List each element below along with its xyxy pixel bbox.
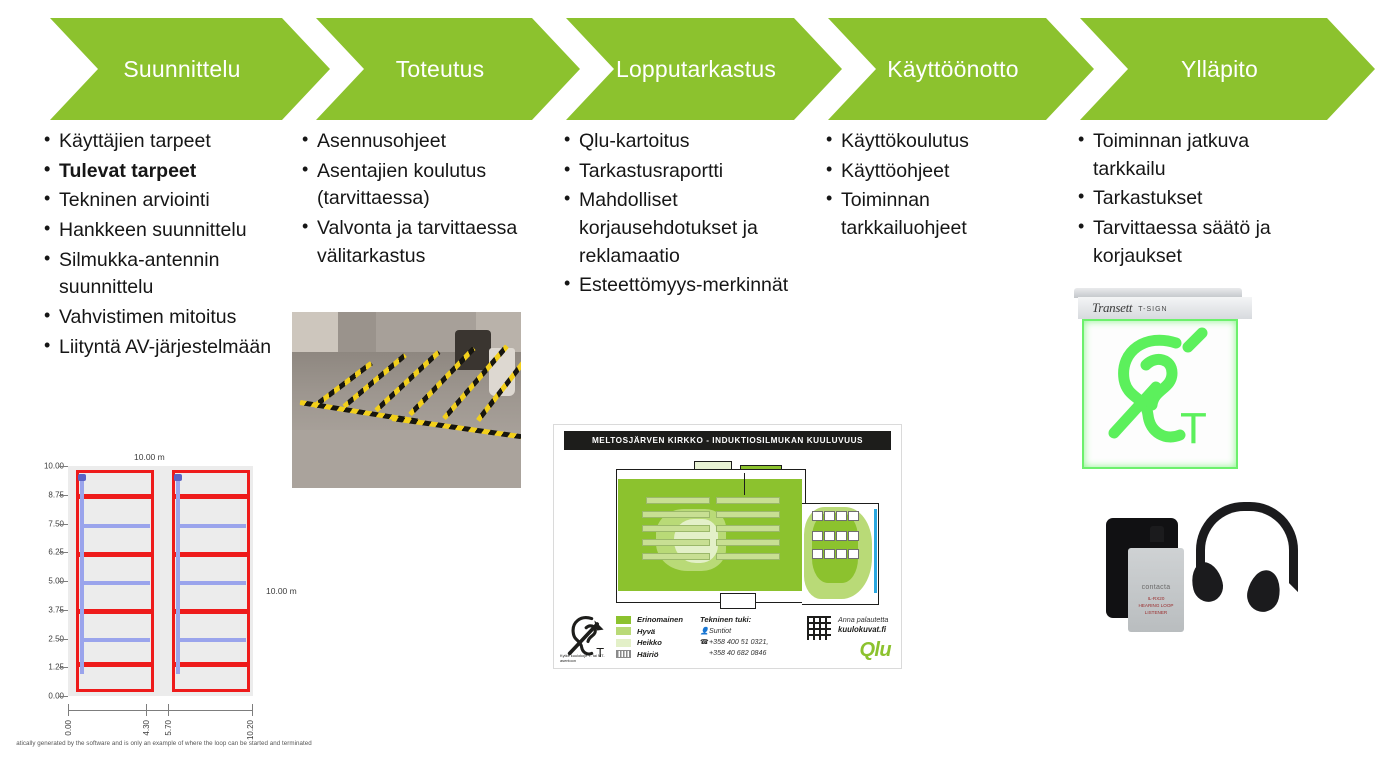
loop-segment-right — [172, 662, 250, 667]
legend-row: Erinomainen — [616, 615, 683, 624]
list-item-text: Valvonta ja tarvittaessa välitarkastus — [317, 217, 517, 267]
hearing-loop-symbol-icon: T — [1084, 321, 1236, 467]
list-item-text: Asennusohjeet — [317, 130, 446, 152]
bullet-list: Käyttökoulutus Käyttöohjeet Toiminnan ta… — [824, 128, 1034, 243]
legend-label: Erinomainen — [637, 615, 683, 624]
technical-support-block: Tekninen tuki: 👤 Suntiot ☎ +358 400 51 0… — [700, 615, 798, 661]
list-item: Käyttäjien tarpeet — [42, 128, 272, 156]
process-phase-kayttoonotto[interactable]: Käyttöönotto — [828, 18, 1094, 120]
return-segment-left — [80, 638, 150, 642]
receiver-body: contacta IL-RX20 HEARING LOOP LISTENER — [1106, 518, 1178, 618]
bullet-list: Qlu-kartoitus Tarkastusraportti Mahdolli… — [562, 128, 794, 300]
qlu-coverage-report: MELTOSJÄRVEN KIRKKO - INDUKTIOSILMUKAN K… — [553, 424, 902, 669]
photo-floor-loop-cable — [292, 312, 521, 488]
receiver-description: HEARING LOOP LISTENER — [1139, 603, 1174, 615]
legend-swatch-erinomainen — [616, 616, 631, 624]
loop-design-plot: 10.00 m 10.00 m 10.00 8.75 7.50 6.25 5.0… — [14, 452, 314, 772]
plan-entrance-bottom — [720, 593, 756, 609]
chair — [848, 531, 859, 541]
support-phone-row-2: +358 40 682 0846 — [700, 649, 798, 658]
list-item: Asennusohjeet — [300, 128, 532, 156]
pew — [716, 553, 780, 560]
return-vertical-right — [176, 478, 180, 674]
list-item-text: Vahvistimen mitoitus — [59, 306, 236, 328]
loop-start-marker-left — [78, 474, 86, 481]
svg-text:T: T — [1180, 404, 1207, 453]
loop-segment-right — [172, 552, 250, 557]
legend-swatch-heikko — [616, 639, 631, 647]
list-item-text: Tarvittaessa säätö ja korjaukset — [1093, 217, 1271, 267]
bullet-list: Käyttäjien tarpeet Tulevat tarpeet Tekni… — [42, 128, 272, 362]
receiver-brand-label: contacta — [1128, 584, 1184, 591]
list-item: Käyttöohjeet — [824, 158, 1034, 186]
x-tick-label: 5.70 — [164, 720, 173, 736]
list-item-text: Toiminnan tarkkailuohjeet — [841, 189, 967, 239]
list-item-text: Hankkeen suunnittelu — [59, 219, 247, 241]
list-item: Toiminnan tarkkailuohjeet — [824, 187, 1034, 242]
list-item: Tarvittaessa säätö ja korjaukset — [1076, 215, 1308, 270]
pew — [646, 497, 710, 504]
support-contact-row: 👤 Suntiot — [700, 627, 798, 636]
process-phase-toteutus[interactable]: Toteutus — [316, 18, 580, 120]
return-segment-right — [176, 581, 246, 585]
sign-illuminated-panel: T — [1082, 319, 1238, 469]
chair — [836, 549, 847, 559]
sign-model-label: T-SIGN — [1138, 306, 1167, 313]
phase-label: Käyttöönotto — [887, 56, 1019, 83]
feedback-heading: Anna palautetta — [838, 615, 888, 624]
pew — [716, 525, 780, 532]
process-phase-yllapito[interactable]: Ylläpito — [1080, 18, 1375, 120]
list-item: Toiminnan jatkuva tarkkailu — [1076, 128, 1308, 183]
receiver-model: IL-RX20 — [1148, 596, 1165, 601]
phase-items-kayttoonotto: Käyttökoulutus Käyttöohjeet Toiminnan ta… — [824, 128, 1034, 245]
plot-drawing-area — [68, 466, 253, 696]
list-item-text: Tekninen arviointi — [59, 189, 210, 211]
legend-row: Hyvä — [616, 627, 683, 636]
list-item-text: Esteettömyys-merkinnät — [579, 274, 788, 296]
list-item: Vahvistimen mitoitus — [42, 304, 272, 332]
pew — [642, 539, 710, 546]
sign-brand-label: Transett — [1092, 300, 1132, 316]
plan-loop-cable — [874, 509, 877, 593]
sign-brand-bar: Transett T-SIGN — [1078, 297, 1252, 319]
bullet-list: Toiminnan jatkuva tarkkailu Tarkastukset… — [1076, 128, 1308, 270]
list-item: Tulevat tarpeet — [42, 158, 272, 186]
list-item: Valvonta ja tarvittaessa välitarkastus — [300, 215, 532, 270]
return-segment-right — [176, 638, 246, 642]
process-phase-lopputarkastus[interactable]: Lopputarkastus — [566, 18, 842, 120]
list-item: Silmukka-antennin suunnittelu — [42, 247, 272, 302]
plot-top-dimension: 10.00 m — [134, 452, 165, 462]
person-icon: 👤 — [700, 627, 709, 636]
list-item-text: Käyttökoulutus — [841, 130, 969, 152]
photo-floor-near — [292, 430, 521, 488]
pew — [642, 553, 710, 560]
chair — [812, 531, 823, 541]
plot-y-axis: 10.00 8.75 7.50 6.25 5.00 3.75 2.50 1.25… — [14, 466, 68, 696]
list-item-text: Liityntä AV-järjestelmään — [59, 336, 271, 358]
list-item: Mahdolliset korjausehdotukset ja reklama… — [562, 187, 794, 270]
loop-segment-right — [172, 494, 250, 499]
legend-swatch-hyva — [616, 627, 631, 635]
x-tick-label: 10.20 — [246, 720, 255, 740]
loop-segment-left — [76, 609, 154, 614]
list-item-text: Mahdolliset korjausehdotukset ja reklama… — [579, 189, 758, 266]
phase-items-toteutus: Asennusohjeet Asentajien koulutus (tarvi… — [300, 128, 532, 272]
plan-direction-arrow — [744, 473, 745, 495]
list-item: Tarkastukset — [1076, 185, 1308, 213]
slide-canvas: Suunnittelu Toteutus Lopputarkastus Käyt… — [0, 0, 1400, 782]
plan-side-coverage-excellent — [812, 513, 858, 583]
list-item: Käyttökoulutus — [824, 128, 1034, 156]
pew — [642, 511, 710, 518]
list-item-text: Tarkastukset — [1093, 187, 1202, 209]
pew — [716, 511, 780, 518]
coverage-floorplan — [616, 461, 866, 607]
list-item: Hankkeen suunnittelu — [42, 217, 272, 245]
list-item-text: Tulevat tarpeet — [59, 160, 196, 182]
plot-right-dimension: 10.00 m — [266, 586, 297, 596]
loop-segment-left — [76, 662, 154, 667]
list-item: Asentajien koulutus (tarvittaessa) — [300, 158, 532, 213]
list-item-text: Qlu-kartoitus — [579, 130, 690, 152]
coverage-legend: Erinomainen Hyvä Heikko Häiriö — [616, 615, 683, 661]
phase-items-lopputarkastus: Qlu-kartoitus Tarkastusraportti Mahdolli… — [562, 128, 794, 302]
qr-code-icon[interactable] — [806, 615, 832, 641]
phase-label: Toteutus — [396, 56, 485, 83]
return-segment-right — [176, 524, 246, 528]
photo-transett-t-sign: Transett T-SIGN T — [1068, 288, 1244, 470]
x-tick-label: 0.00 — [64, 720, 73, 736]
receiver-model-label: IL-RX20 HEARING LOOP LISTENER — [1128, 596, 1184, 617]
legend-swatch-hairio — [616, 650, 631, 658]
phase-items-suunnittelu: Käyttäjien tarpeet Tulevat tarpeet Tekni… — [42, 128, 272, 364]
list-item: Esteettömyys-merkinnät — [562, 272, 794, 300]
list-item-text: Silmukka-antennin suunnittelu — [59, 249, 219, 299]
legend-label: Häiriö — [637, 650, 659, 659]
receiver-faceplate: contacta IL-RX20 HEARING LOOP LISTENER — [1128, 548, 1184, 632]
plot-x-axis: 0.00 4.30 5.70 10.20 — [68, 704, 253, 718]
receiver-volume-knob — [1150, 526, 1164, 542]
chair — [836, 531, 847, 541]
chair — [824, 549, 835, 559]
chair — [824, 531, 835, 541]
phone-icon: ☎ — [700, 638, 709, 647]
support-name: Suntiot — [709, 627, 731, 636]
chair — [824, 511, 835, 521]
list-item-text: Käyttöohjeet — [841, 160, 949, 182]
chair — [812, 511, 823, 521]
list-item: Tarkastusraportti — [562, 158, 794, 186]
chair — [848, 549, 859, 559]
list-item: Tekninen arviointi — [42, 187, 272, 215]
x-axis-line — [68, 710, 253, 711]
loop-segment-left — [76, 552, 154, 557]
phase-label: Ylläpito — [1181, 56, 1258, 83]
chair — [848, 511, 859, 521]
support-heading: Tekninen tuki: — [700, 615, 798, 624]
photo-loop-receiver-and-headphones: contacta IL-RX20 HEARING LOOP LISTENER — [1092, 496, 1288, 628]
process-chevron-band: Suunnittelu Toteutus Lopputarkastus Käyt… — [0, 18, 1400, 120]
legend-label: Hyvä — [637, 627, 655, 636]
plot-caption: atically generated by the software and i… — [14, 740, 314, 747]
process-phase-suunnittelu[interactable]: Suunnittelu — [50, 18, 330, 120]
feedback-block[interactable]: Anna palautetta kuulokuvat.fi — [806, 615, 896, 641]
pew — [642, 525, 710, 532]
pew — [716, 539, 780, 546]
phase-label: Lopputarkastus — [616, 56, 776, 83]
chair — [812, 549, 823, 559]
list-item-text: Käyttäjien tarpeet — [59, 130, 211, 152]
feedback-site: kuulokuvat.fi — [838, 625, 886, 634]
feedback-text: Anna palautetta kuulokuvat.fi — [838, 615, 888, 641]
list-item-text: Tarkastusraportti — [579, 160, 723, 182]
list-item-text: Asentajien koulutus (tarvittaessa) — [317, 160, 486, 210]
legend-row: Heikko — [616, 638, 683, 647]
loop-segment-left — [76, 494, 154, 499]
list-item-text: Toiminnan jatkuva tarkkailu — [1093, 130, 1249, 180]
report-title: MELTOSJÄRVEN KIRKKO - INDUKTIOSILMUKAN K… — [564, 431, 891, 450]
x-tick-label: 4.30 — [142, 720, 151, 736]
chair — [836, 511, 847, 521]
list-item: Qlu-kartoitus — [562, 128, 794, 156]
return-segment-left — [80, 524, 150, 528]
support-phone-2: +358 40 682 0846 — [709, 649, 766, 658]
bullet-list: Asennusohjeet Asentajien koulutus (tarvi… — [300, 128, 532, 270]
list-item: Liityntä AV-järjestelmään — [42, 334, 272, 362]
pew — [716, 497, 780, 504]
phase-items-yllapito: Toiminnan jatkuva tarkkailu Tarkastukset… — [1076, 128, 1308, 272]
support-phone-1: +358 400 51 0321, — [709, 638, 768, 647]
loop-segment-right — [172, 609, 250, 614]
return-vertical-left — [80, 478, 84, 674]
loop-start-marker-right — [174, 474, 182, 481]
legend-label: Heikko — [637, 638, 662, 647]
return-segment-left — [80, 581, 150, 585]
phase-label: Suunnittelu — [123, 56, 240, 83]
ear-icon-caption: Kytke kuulokoje T- tai MT-asentoon — [560, 653, 614, 664]
qlu-logo: Qlu — [859, 639, 891, 662]
legend-row: Häiriö — [616, 650, 683, 659]
support-phone-row: ☎ +358 400 51 0321, — [700, 638, 798, 647]
